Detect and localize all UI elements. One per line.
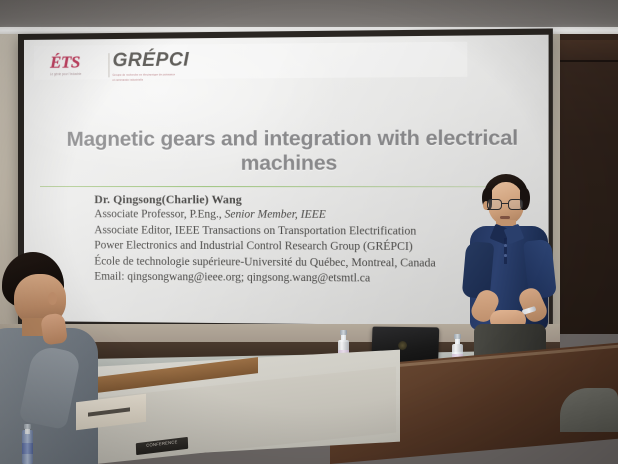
glasses-icon (486, 199, 526, 210)
presenter-placket (504, 238, 507, 264)
grepci-logo-tagline: Groupe de recherche en électronique de p… (112, 72, 177, 82)
grepci-logo-text: GRÉPCI (112, 50, 234, 70)
slide-logo-band: ÉTS Le génie pour l'industrie GRÉPCI Gro… (34, 42, 467, 80)
presenter-button (504, 254, 507, 257)
glasses-lens-left (487, 199, 502, 210)
presenter-button (504, 244, 507, 247)
slide-line-role-italic: Senior Member, IEEE (225, 209, 326, 221)
glasses-bridge (502, 203, 509, 204)
attendee-partial-right (560, 388, 618, 432)
water-bottle (22, 420, 33, 464)
logo-divider (108, 53, 109, 77)
seated-attendee (0, 252, 124, 464)
presenter-mouth (500, 216, 510, 219)
ceiling (0, 0, 618, 30)
photo-scene: ÉTS Le génie pour l'industrie GRÉPCI Gro… (0, 0, 618, 464)
ets-logo: ÉTS Le génie pour l'industrie (50, 53, 108, 76)
glasses-lens-right (508, 199, 523, 210)
grepci-logo: GRÉPCI Groupe de recherche en électroniq… (112, 50, 234, 80)
ets-logo-text: ÉTS (50, 53, 108, 71)
bottle-cap (24, 424, 31, 429)
slide-line-role-plain: Associate Professor, P.Eng., (94, 209, 224, 221)
bottle-label (22, 443, 33, 454)
door-header (560, 40, 618, 62)
ets-logo-tagline: Le génie pour l'industrie (50, 72, 108, 76)
attendee-ear (48, 292, 57, 305)
attendee-hand (40, 312, 68, 345)
bottle-cap (340, 330, 347, 335)
